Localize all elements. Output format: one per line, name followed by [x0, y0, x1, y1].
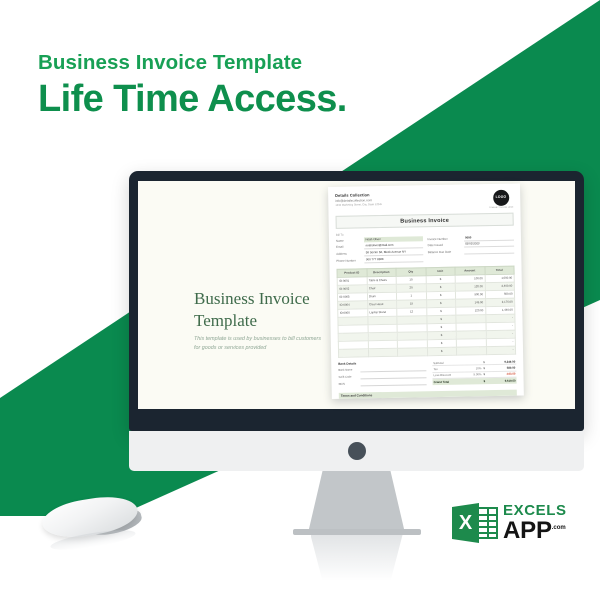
- logo-badge-text: LOGO: [496, 196, 507, 199]
- totals-value: -163.00: [489, 372, 516, 376]
- brand-wordmark: EXCELS APP.com: [503, 503, 567, 543]
- invoice-company-block: Details Collection info@detailscollectio…: [335, 192, 382, 207]
- bank-detail-label: IBAN: [339, 383, 359, 386]
- headline-title: Life Time Access.: [38, 79, 347, 120]
- bank-detail-row: Swift Code: [338, 373, 426, 380]
- invoice-field-row: Phone Number000 777 8888: [336, 256, 423, 263]
- template-cover-page: Business Invoice Template This template …: [154, 195, 342, 409]
- excel-icon: X: [452, 503, 498, 543]
- bank-heading: Bank Details: [338, 360, 426, 366]
- bank-details-block: Bank Details Bank NameSwift CodeIBAN: [338, 360, 426, 389]
- excelsapp-logo: X EXCELS APP.com: [452, 503, 567, 543]
- invoice-field-value[interactable]: Noah Oliver: [364, 237, 423, 243]
- table-cell: -: [486, 346, 516, 355]
- bank-detail-value[interactable]: [361, 381, 427, 387]
- invoice-sheet-wrapper: Details Collection info@detailscollectio…: [328, 183, 524, 398]
- bank-detail-value[interactable]: [360, 373, 426, 379]
- computer-mouse: [42, 499, 148, 545]
- invoice-details-col: Invoice Number0000Date Issued03/01/2023B…: [427, 230, 514, 263]
- invoice-footer: Bank Details Bank NameSwift CodeIBAN Sub…: [338, 359, 516, 390]
- logo-tagline: COMPANY TAGLINE HERE: [489, 207, 513, 209]
- table-cell: [338, 349, 368, 358]
- bank-detail-label: Bank Name: [338, 368, 358, 371]
- monitor-stand-neck: [309, 471, 405, 531]
- totals-label: Tax: [432, 367, 465, 372]
- invoice-sheet: Details Collection info@detailscollectio…: [328, 183, 524, 398]
- invoice-header: Details Collection info@detailscollectio…: [335, 190, 513, 212]
- invoice-logo-block: LOGO COMPANY TAGLINE HERE: [489, 190, 514, 209]
- totals-value: 9,619.00: [490, 379, 517, 383]
- invoice-field-label: Balance Due Date: [428, 250, 462, 255]
- invoice-field-value[interactable]: [464, 248, 515, 255]
- invoice-meta: Bill To NameNoah OliverEmailnoaholiver@m…: [336, 230, 515, 265]
- invoice-items-table: Product IDDescriptionQtyUnitAmountTotal …: [336, 265, 516, 357]
- excel-x-letter: X: [452, 503, 479, 543]
- company-address: 1234 Marketing Street, City, State 12345: [335, 203, 382, 208]
- promo-canvas: Business Invoice Template Life Time Acce…: [0, 0, 600, 600]
- monitor-bezel: Business Invoice Template This template …: [129, 171, 584, 431]
- cover-description: This template is used by businesses to b…: [194, 335, 324, 353]
- invoice-field-label: Invoice Number: [427, 236, 461, 241]
- totals-value: 9,249.00: [489, 359, 516, 363]
- cover-title: Business Invoice Template: [194, 288, 344, 333]
- invoice-title-bar: Business Invoice: [336, 213, 514, 229]
- brand-name-top: EXCELS: [503, 503, 567, 518]
- totals-label: Subtotal: [432, 360, 465, 365]
- logo-badge-icon: LOGO: [493, 190, 509, 206]
- totals-rate: 5.00%: [465, 373, 483, 377]
- bank-detail-value[interactable]: [360, 366, 426, 372]
- brand-tld: .com: [552, 525, 566, 531]
- monitor-logo-icon: [348, 442, 366, 460]
- totals-label: Less Discount: [432, 373, 465, 378]
- invoice-field-label: Phone Number: [336, 258, 362, 262]
- totals-row: Grand Total$9,619.00: [433, 378, 517, 386]
- totals-rate: 10%: [465, 366, 483, 370]
- brand-name-bottom: APP.com: [503, 519, 567, 543]
- imac-monitor: Business Invoice Template This template …: [129, 171, 584, 431]
- bank-detail-row: IBAN: [339, 381, 427, 388]
- table-cell: [456, 347, 486, 356]
- table-cell: [397, 348, 427, 357]
- bank-detail-row: Bank Name: [338, 366, 426, 373]
- invoice-field-label: Date Issued: [428, 243, 462, 248]
- excel-grid-icon: [477, 507, 498, 539]
- invoice-field-label: Name: [336, 238, 362, 242]
- invoice-totals-block: Subtotal$9,249.00Tax10%$580.00Less Disco…: [432, 359, 516, 388]
- table-cell: $: [427, 347, 457, 356]
- headline-block: Business Invoice Template Life Time Acce…: [38, 52, 347, 120]
- table-cell: [368, 348, 398, 357]
- headline-subtitle: Business Invoice Template: [38, 52, 347, 75]
- monitor-stand-reflection: [311, 535, 403, 581]
- brand-app-text: APP: [503, 517, 552, 544]
- invoice-field-label: Address: [336, 251, 362, 255]
- totals-label: Grand Total: [433, 380, 466, 385]
- invoice-field-row: Balance Due Date: [428, 248, 515, 255]
- monitor-chin: [129, 431, 584, 471]
- monitor-stand-base: [293, 529, 421, 535]
- invoice-field-value[interactable]: 000 777 8888: [364, 256, 423, 263]
- invoice-billto-col: Bill To NameNoah OliverEmailnoaholiver@m…: [336, 231, 423, 264]
- invoice-field-label: Email: [336, 245, 362, 249]
- totals-value: 580.00: [489, 366, 516, 370]
- bank-detail-label: Swift Code: [338, 376, 358, 379]
